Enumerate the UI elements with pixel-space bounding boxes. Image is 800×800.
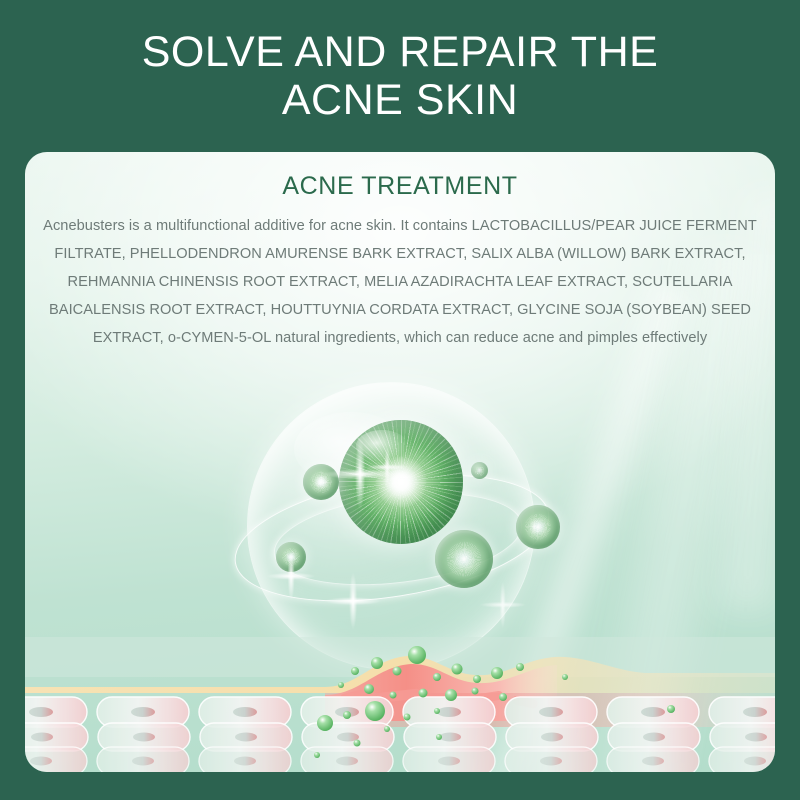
page-title-line-1: SOLVE AND REPAIR THE bbox=[142, 28, 659, 76]
section-heading: ACNE TREATMENT bbox=[25, 172, 775, 201]
page-title-line-2: ACNE SKIN bbox=[282, 76, 518, 124]
page-banner: SOLVE AND REPAIR THE ACNE SKIN bbox=[0, 0, 800, 152]
core-sphere-icon bbox=[339, 420, 463, 544]
ingredient-description: Acnebusters is a multifunctional additiv… bbox=[38, 212, 762, 352]
core-center-glow bbox=[375, 456, 427, 508]
satellite-sphere-icon bbox=[471, 462, 488, 479]
satellite-sphere-icon bbox=[303, 464, 339, 500]
skin-cross-section-illustration bbox=[25, 637, 775, 772]
content-card: ACNE TREATMENT Acnebusters is a multifun… bbox=[25, 152, 775, 772]
satellite-sphere-icon bbox=[516, 505, 560, 549]
molecule-illustration bbox=[25, 377, 775, 667]
satellite-sphere-icon bbox=[435, 530, 493, 588]
satellite-sphere-icon bbox=[276, 542, 306, 572]
